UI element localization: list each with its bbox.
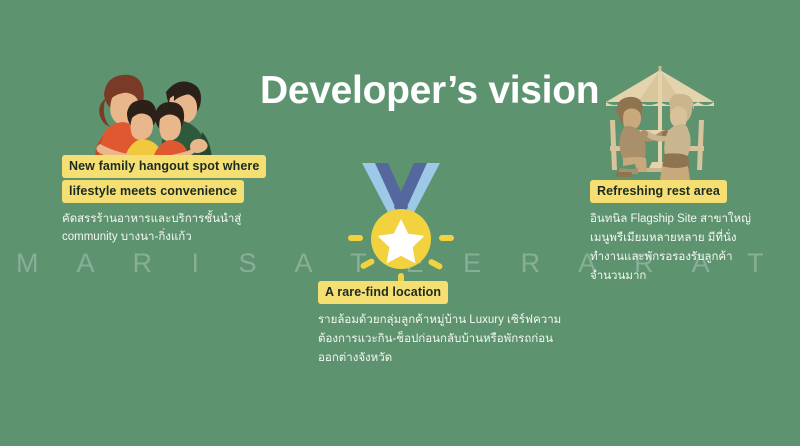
body-line: เมนูพรีเมียมหลายหลาย มีที่นั่ง: [590, 229, 790, 248]
callout-family-badge: New family hangout spot where lifestyle …: [62, 155, 277, 203]
body-line: อินทนิล Flagship Site สาขาใหญ่: [590, 210, 790, 229]
badge-line: New family hangout spot where: [62, 155, 266, 178]
callout-location-badge: A rare-find location: [318, 281, 553, 304]
callout-family-body: คัดสรรร้านอาหารและบริการชั้นนำสู่ commun…: [62, 210, 277, 248]
callout-location: A rare-find location รายล้อมด้วยกลุ่มลูก…: [318, 281, 553, 368]
body-line: ต้องการแวะกิน-ช็อปก่อนกลับบ้านหรือพักรถก…: [318, 330, 553, 349]
callout-location-body: รายล้อมด้วยกลุ่มลูกค้าหมู่บ้าน Luxury เซ…: [318, 311, 553, 368]
body-line: รายล้อมด้วยกลุ่มลูกค้าหมู่บ้าน Luxury เซ…: [318, 311, 553, 330]
badge-line: lifestyle meets convenience: [62, 180, 244, 203]
body-line: community บางนา-กิ่งแก้ว: [62, 228, 277, 247]
body-line: คัดสรรร้านอาหารและบริการชั้นนำสู่: [62, 210, 277, 229]
callout-rest-badge: Refreshing rest area: [590, 180, 790, 203]
callout-family: New family hangout spot where lifestyle …: [62, 155, 277, 247]
callout-rest-body: อินทนิล Flagship Site สาขาใหญ่ เมนูพรีเม…: [590, 210, 790, 286]
slide-canvas: Developer’s vision M A R I S A T E E R A…: [0, 0, 800, 446]
badge-line: A rare-find location: [318, 281, 448, 304]
callout-rest-area: Refreshing rest area อินทนิล Flagship Si…: [590, 180, 790, 286]
cafe-umbrella-icon: [596, 58, 724, 180]
gold-medal-icon: [340, 163, 462, 285]
body-line: ทำงานและพักรอรองรับลูกค้า: [590, 248, 790, 267]
badge-line: Refreshing rest area: [590, 180, 727, 203]
body-line: จำนวนมาก: [590, 267, 790, 286]
body-line: ออกต่างจังหวัด: [318, 349, 553, 368]
family-of-four-icon: [82, 58, 218, 158]
